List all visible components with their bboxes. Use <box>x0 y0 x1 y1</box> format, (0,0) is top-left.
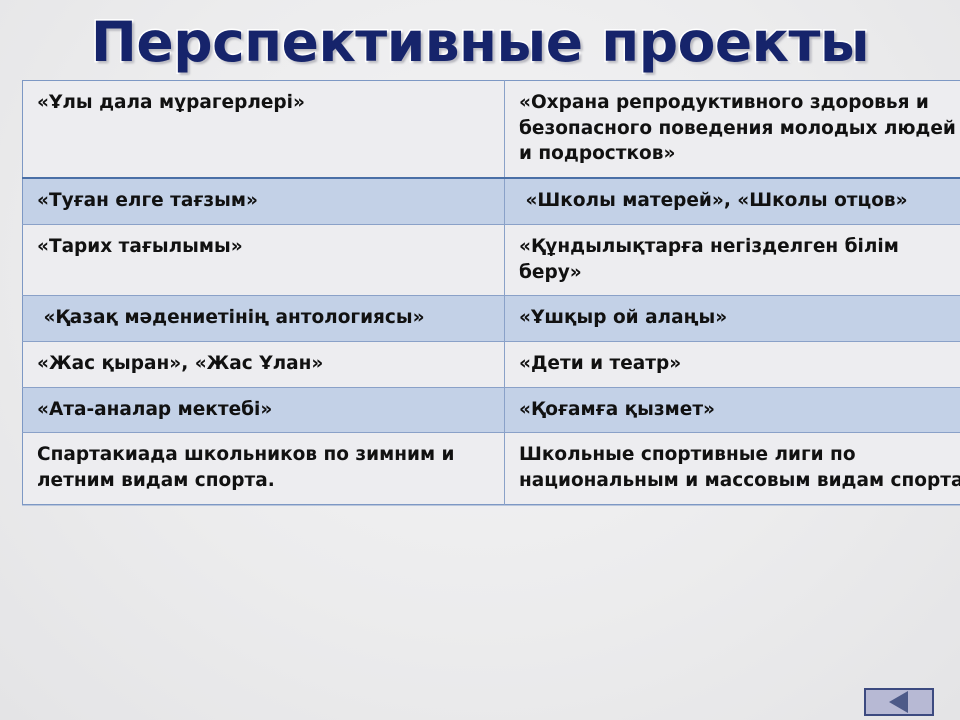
triangle-left-icon <box>889 691 908 713</box>
table-row: «Ұлы дала мұрагерлері»«Охрана репродукти… <box>23 81 960 179</box>
page-title-text: Перспективные проекты <box>91 15 869 70</box>
table-row: «Тарих тағылымы»«Құндылықтарға негізделг… <box>23 224 960 295</box>
table-cell-right: «Школы матерей», «Школы отцов» <box>505 178 960 224</box>
table-cell-right: «Дети и театр» <box>505 341 960 387</box>
table-cell-left: «Жас қыран», «Жас Ұлан» <box>23 341 505 387</box>
table-row: Спартакиада школьников по зимним и летни… <box>23 433 960 504</box>
table-cell-left: «Қазақ мәдениетінің антологиясы» <box>23 296 505 342</box>
table-row: «Туған елге тағзым» «Школы матерей», «Шк… <box>23 178 960 224</box>
table-cell-left: Спартакиада школьников по зимним и летни… <box>23 433 505 504</box>
table-cell-right: «Құндылықтарға негізделген білім беру» <box>505 224 960 295</box>
table-cell-right: «Охрана репродуктивного здоровья и безоп… <box>505 81 960 179</box>
table-cell-left: «Туған елге тағзым» <box>23 178 505 224</box>
table-row: «Жас қыран», «Жас Ұлан»«Дети и театр» <box>23 341 960 387</box>
table-cell-left: «Ұлы дала мұрагерлері» <box>23 81 505 179</box>
projects-table: «Ұлы дала мұрагерлері»«Охрана репродукти… <box>22 80 960 505</box>
slide: Перспективные проекты «Ұлы дала мұрагерл… <box>0 0 960 720</box>
table-cell-left: «Ата-аналар мектебі» <box>23 387 505 433</box>
table-row: «Қазақ мәдениетінің антологиясы»«Ұшқыр о… <box>23 296 960 342</box>
table-cell-right: «Қоғамға қызмет» <box>505 387 960 433</box>
table-row: «Ата-аналар мектебі»«Қоғамға қызмет» <box>23 387 960 433</box>
table-cell-left: «Тарих тағылымы» <box>23 224 505 295</box>
table-cell-right: Школьные спортивные лиги по национальным… <box>505 433 960 504</box>
back-navigation-button[interactable] <box>864 688 934 716</box>
table-cell-right: «Ұшқыр ой алаңы» <box>505 296 960 342</box>
page-title: Перспективные проекты <box>0 6 960 78</box>
